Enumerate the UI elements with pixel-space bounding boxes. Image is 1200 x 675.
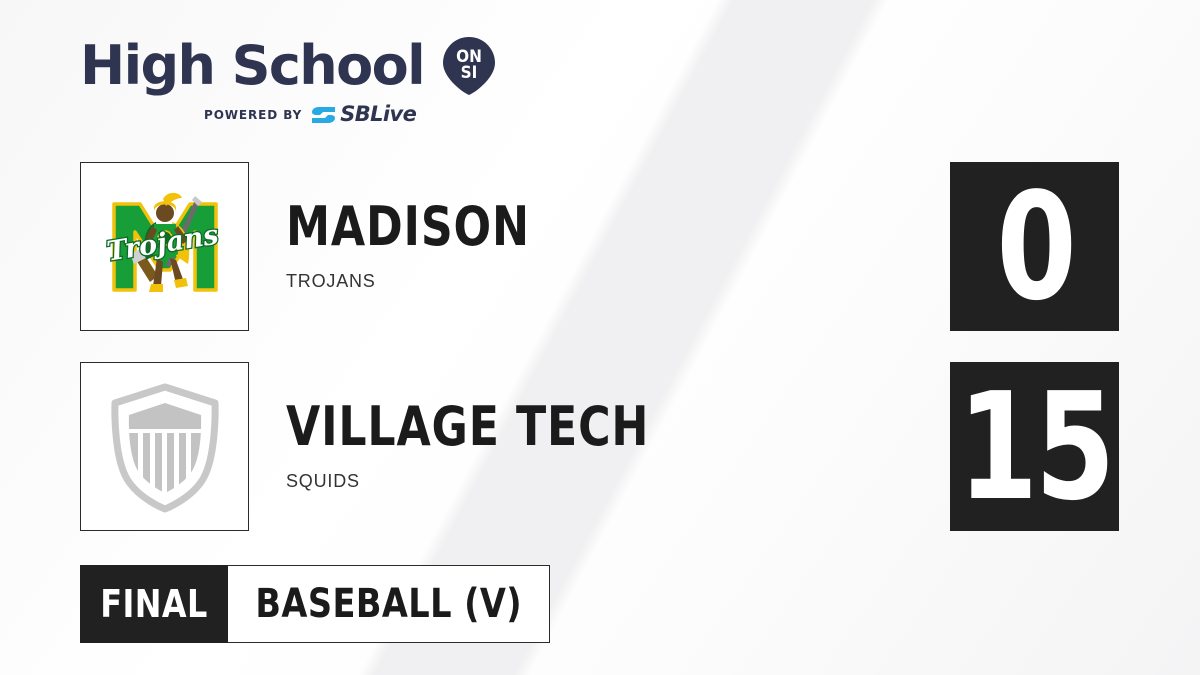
on-si-pin-icon: ON SI [438,35,500,97]
svg-text:SI: SI [461,62,478,82]
team-row: Trojans MADISON TROJANS 0 [0,162,1200,338]
madison-trojans-logo-icon: Trojans [100,182,230,312]
sblive-s-mark-icon [311,105,337,125]
team-score: 15 [957,373,1111,521]
team-identity: VILLAGE TECH SQUIDS [286,400,729,492]
team-mascot: TROJANS [286,271,583,292]
team-row: VILLAGE TECH SQUIDS 15 [0,362,1200,538]
powered-by-row: POWERED BY SBLive [80,104,510,125]
sblive-wordmark: SBLive [340,104,416,125]
team-logo-card: Trojans [80,162,249,331]
team-name: MADISON [286,200,530,254]
team-logo-card [80,362,249,531]
game-status-bar: FINAL BASEBALL (V) [80,565,550,643]
status-badge-label: FINAL [100,585,208,623]
brand-lockup: High School ON SI POWERED BY SBLive [80,34,510,125]
team-name: VILLAGE TECH [286,400,649,454]
brand-title: High School [80,39,424,93]
powered-by-label: POWERED BY [204,108,302,122]
brand-title-row: High School ON SI [80,34,510,98]
team-score: 0 [996,173,1073,321]
team-score-box: 15 [950,362,1119,531]
sport-label-panel: BASEBALL (V) [228,565,550,643]
generic-shield-placeholder-logo-icon [105,381,225,513]
status-badge: FINAL [80,565,228,643]
scoreboard-graphic: High School ON SI POWERED BY SBLive [0,0,1200,675]
team-mascot: SQUIDS [286,471,729,492]
sblive-logo: SBLive [311,104,416,125]
team-score-box: 0 [950,162,1119,331]
team-identity: MADISON TROJANS [286,200,583,292]
sport-label: BASEBALL (V) [255,584,522,624]
